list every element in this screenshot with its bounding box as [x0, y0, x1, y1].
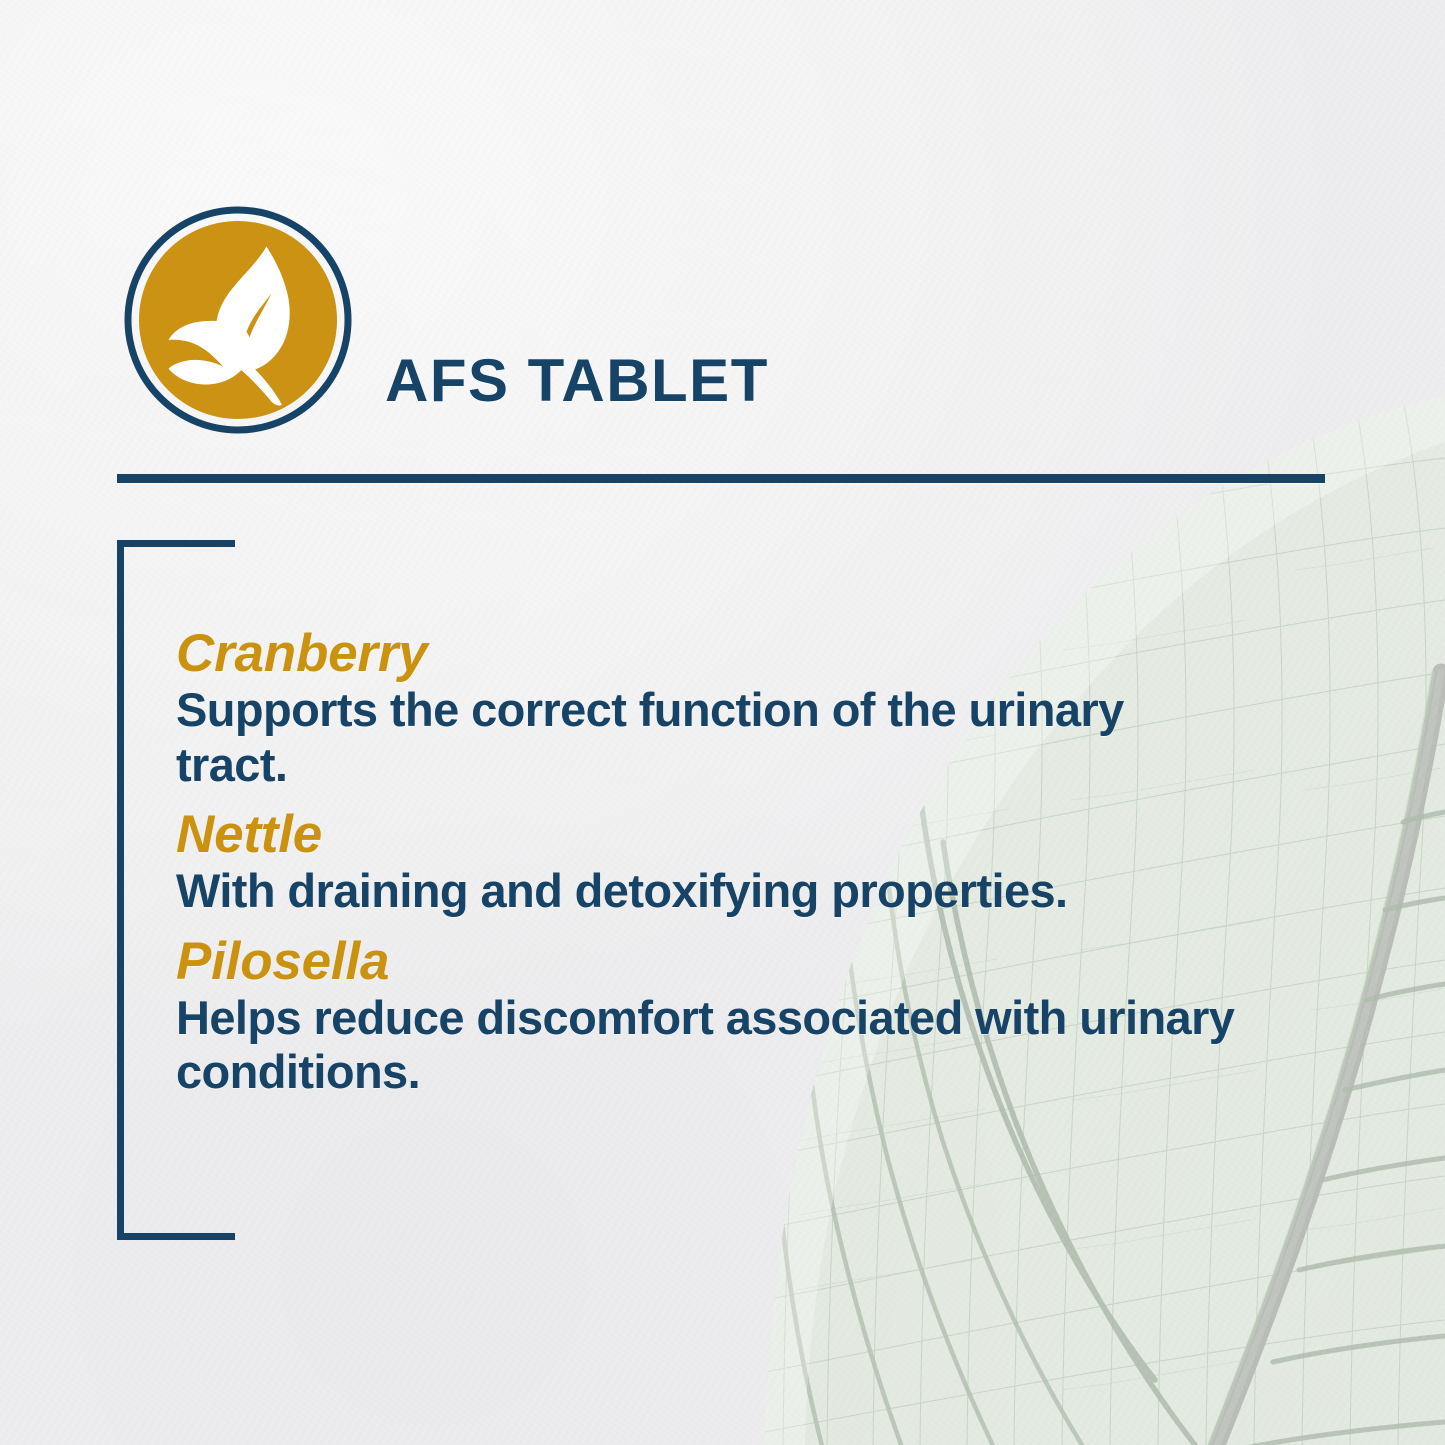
ingredient-description: With draining and detoxifying properties… — [176, 864, 1301, 919]
ingredient-list: Cranberry Supports the correct function … — [176, 627, 1326, 1100]
bracket-vertical-bar — [117, 540, 124, 1240]
leaf-sprout-icon — [124, 206, 352, 434]
product-info-card: AFS TABLET Cranberry Supports the correc… — [0, 0, 1445, 1445]
list-item: Cranberry Supports the correct function … — [176, 627, 1326, 792]
ingredient-name: Cranberry — [176, 627, 1326, 681]
ingredient-description: Helps reduce discomfort associated with … — [176, 991, 1301, 1100]
spacer — [176, 792, 1326, 808]
bracket-bottom-arm — [117, 1233, 235, 1240]
list-item: Nettle With draining and detoxifying pro… — [176, 808, 1326, 919]
bracket-top-arm — [117, 540, 235, 547]
brand-logo — [124, 206, 352, 434]
ingredient-description: Supports the correct function of the uri… — [176, 683, 1156, 792]
ingredient-name: Nettle — [176, 808, 1326, 862]
list-item: Pilosella Helps reduce discomfort associ… — [176, 935, 1326, 1100]
page-title: AFS TABLET — [385, 346, 769, 415]
ingredient-name: Pilosella — [176, 935, 1326, 989]
header-divider — [117, 474, 1325, 483]
